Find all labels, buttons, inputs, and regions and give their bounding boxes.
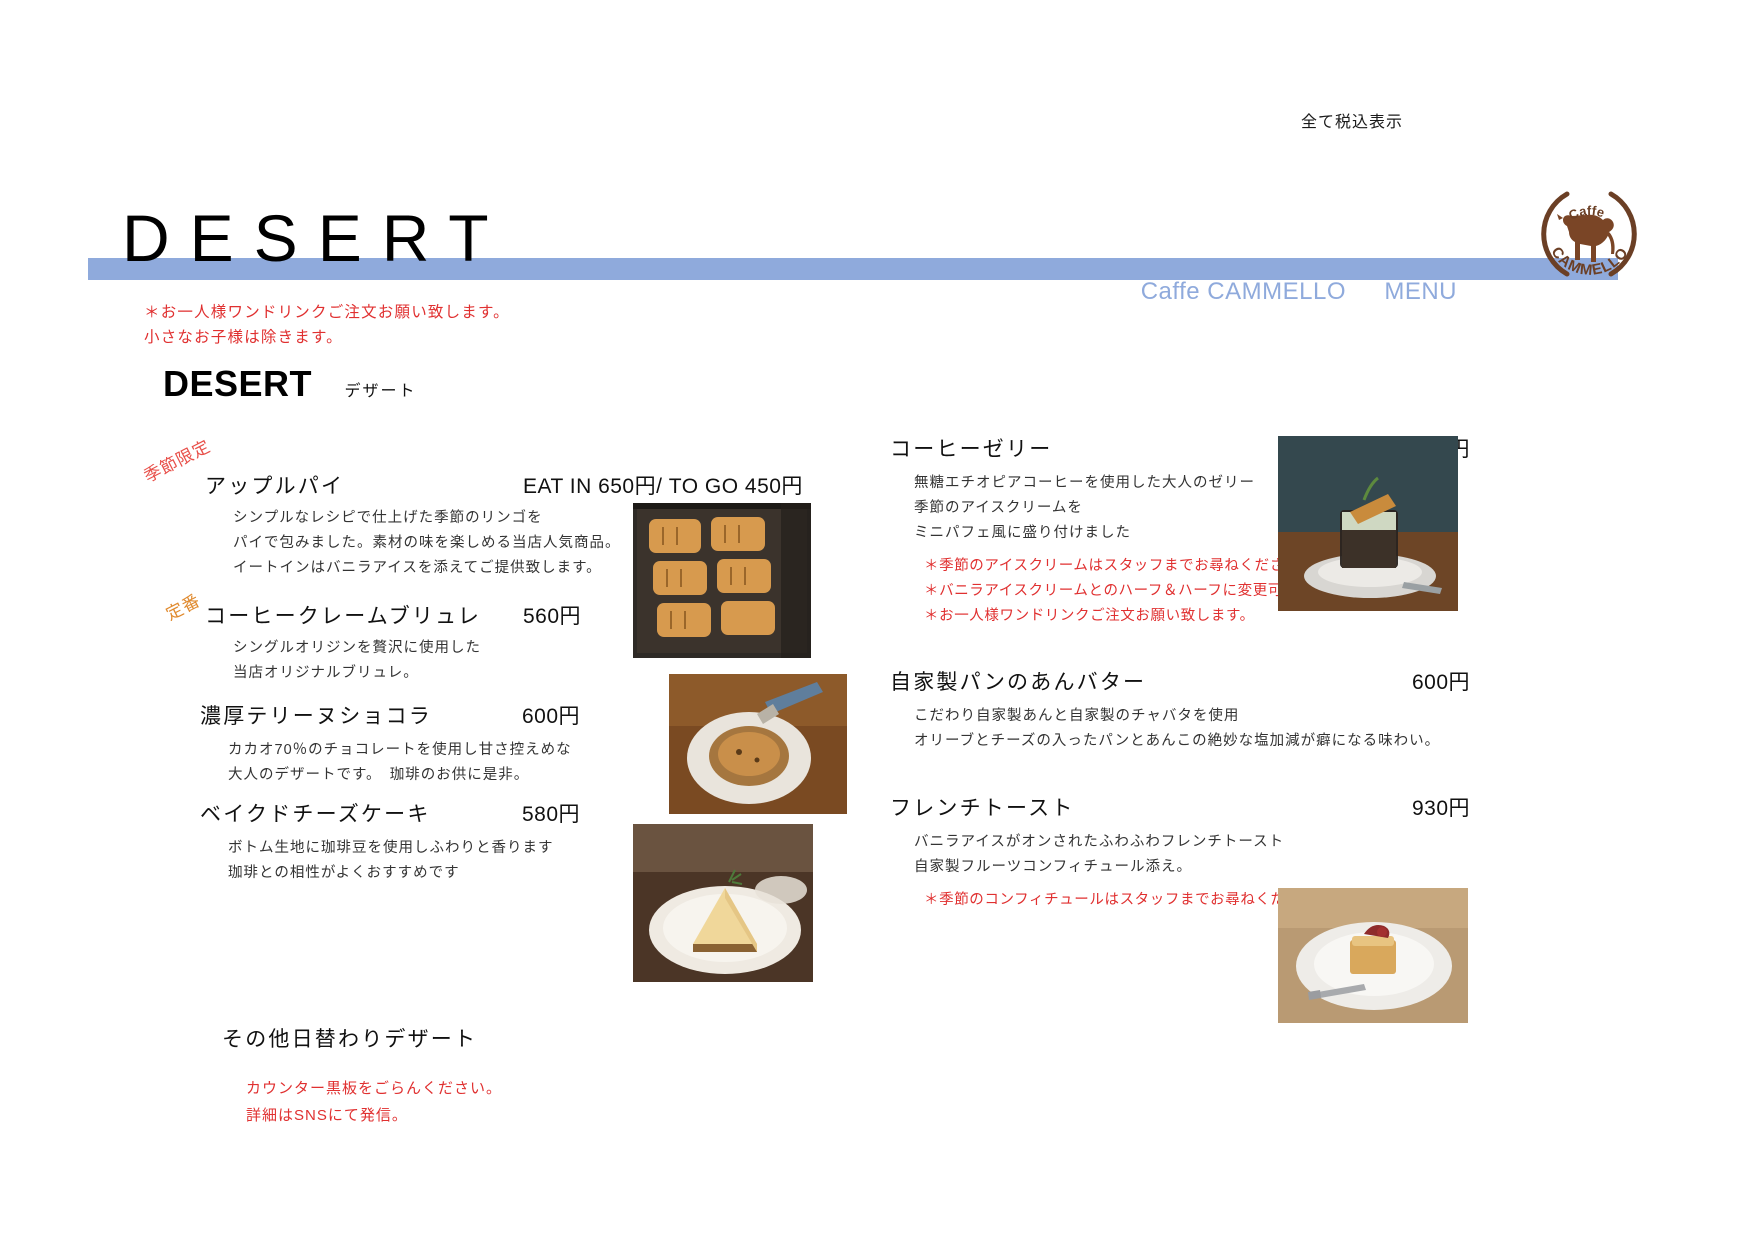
item-note-line: ＊季節のコンフィチュールはスタッフまでお尋ねください。 xyxy=(924,888,1331,913)
item-note-line: ＊お一人様ワンドリンクご注文お願い致します。 xyxy=(924,604,1255,629)
badge-standard: 定番 xyxy=(161,586,204,625)
cheesecake-photo xyxy=(633,824,813,982)
item-desc-line: 当店オリジナルブリュレ。 xyxy=(233,661,419,686)
apple-pie-photo xyxy=(633,503,811,658)
item-desc-line: ミニパフェ風に盛り付けました xyxy=(914,521,1131,546)
item-desc-line: シンプルなレシピで仕上げた季節のリンゴを xyxy=(233,506,543,531)
item-price: 560円 xyxy=(523,600,581,630)
french-toast-photo xyxy=(1278,888,1468,1023)
other-desserts-title: その他日替わりデザート xyxy=(222,1023,502,1053)
item-desc-line: パイで包みました。素材の味を楽しめる当店人気商品。 xyxy=(233,531,621,556)
item-desc-line: シングルオリジンを贅沢に使用した xyxy=(233,636,481,661)
other-desserts-block: その他日替わりデザート カウンター黒板をごらんください。 詳細はSNSにて発信。 xyxy=(222,1023,502,1129)
item-price: 600円 xyxy=(1412,666,1470,696)
item-desc-line: 大人のデザートです。 珈琲のお供に是非。 xyxy=(228,763,529,788)
item-name: アップルパイ xyxy=(205,470,344,500)
item-desc-line: 珈琲との相性がよくおすすめです xyxy=(228,861,460,886)
item-desc-line: カカオ70％のチョコレートを使用し甘さ控えめな xyxy=(228,738,572,763)
item-price: 600円 xyxy=(522,700,580,730)
item-desc-line: 無糖エチオピアコーヒーを使用した大人のゼリー xyxy=(914,471,1255,496)
page-title: DESERT xyxy=(122,205,509,271)
left-column: 季節限定 アップルパイ EAT IN 650円/ TO GO 450円 シンプル… xyxy=(0,0,840,1240)
item-desc-line: こだわり自家製あんと自家製のチャバタを使用 xyxy=(914,704,1239,729)
coffee-jelly-photo xyxy=(1278,436,1458,611)
item-name: 濃厚テリーヌショコラ xyxy=(200,700,432,730)
other-desserts-notes: カウンター黒板をごらんください。 詳細はSNSにて発信。 xyxy=(246,1075,502,1129)
cammello-logo: Caffe CAMMELLO xyxy=(1533,178,1645,290)
item-name: コーヒークレームブリュレ xyxy=(205,600,481,630)
item-desc-line: バニラアイスがオンされたふわふわフレンチトースト xyxy=(914,830,1284,855)
item-name: 自家製パンのあんバター xyxy=(890,666,1146,696)
item-price: EAT IN 650円/ TO GO 450円 xyxy=(523,470,803,500)
item-desc-line: 自家製フルーツコンフィチュール添え。 xyxy=(914,855,1192,880)
item-price: 930円 xyxy=(1412,792,1470,822)
item-desc-line: オリーブとチーズの入ったパンとあんこの絶妙な塩加減が癖になる味わい。 xyxy=(914,729,1440,754)
item-desc-line: ボトム生地に珈琲豆を使用しふわりと香ります xyxy=(228,836,554,861)
item-desc-line: 季節のアイスクリームを xyxy=(914,496,1083,521)
item-note-line: ＊季節のアイスクリームはスタッフまでお尋ねください。 xyxy=(924,554,1315,579)
svg-text:CAMMELLO: CAMMELLO xyxy=(1547,244,1632,279)
badge-seasonal: 季節限定 xyxy=(139,432,215,487)
item-name: フレンチトースト xyxy=(890,792,1075,822)
item-name: ベイクドチーズケーキ xyxy=(200,798,431,828)
other-desserts-note: 詳細はSNSにて発信。 xyxy=(246,1102,502,1129)
item-desc-line: イートインはバニラアイスを添えてご提供致します。 xyxy=(233,556,602,581)
item-price: 580円 xyxy=(522,798,580,828)
item-name: コーヒーゼリー xyxy=(890,433,1052,463)
creme-brulee-photo xyxy=(669,674,847,814)
other-desserts-note: カウンター黒板をごらんください。 xyxy=(246,1075,502,1102)
